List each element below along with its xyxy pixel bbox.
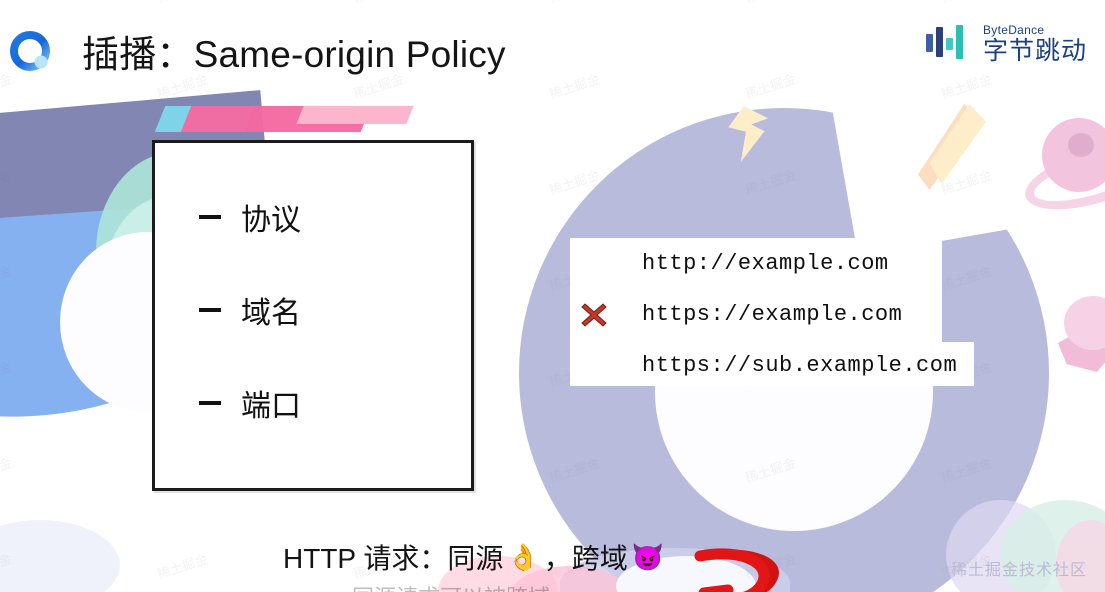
list-item-label: 协议 — [241, 195, 301, 239]
slide-header: 插播：Same-origin Policy ByteDance 字节跳动 — [0, 0, 1105, 96]
url-text: http://example.com — [642, 251, 889, 276]
same-origin-components-box: 协议域名端口 — [152, 140, 474, 491]
devil-face-icon: 😈 — [632, 544, 664, 570]
slide-canvas: 稀土掘金稀土掘金稀土掘金稀土掘金稀土掘金稀土掘金稀土掘金稀土掘金稀土掘金稀土掘金… — [0, 0, 1105, 592]
bytedance-bars-icon — [925, 25, 973, 64]
list-item: 端口 — [199, 381, 301, 425]
components-list: 协议域名端口 — [199, 195, 301, 425]
blue-ring-logo-icon — [10, 31, 52, 73]
community-watermark: @稀土掘金技术社区 — [934, 556, 1087, 580]
ok-hand-icon: 👌 — [507, 544, 539, 570]
bottom-caption: HTTP 请求：同源 👌 ，跨域 😈 — [283, 537, 668, 577]
bytedance-brand-logo: ByteDance 字节跳动 — [925, 24, 1087, 64]
url-comparison-panel: http://example.comhttps://example.comhtt… — [570, 238, 990, 391]
dash-bullet-icon — [199, 308, 221, 312]
red-curved-arrow-icon — [690, 548, 786, 592]
caption-middle: ，跨域 — [544, 537, 628, 577]
dash-bullet-icon — [199, 401, 221, 405]
brand-name-cn: 字节跳动 — [983, 39, 1087, 64]
list-item: 域名 — [199, 288, 301, 332]
list-item: 协议 — [199, 195, 301, 239]
pale-left-blob-shape — [0, 520, 120, 592]
list-item-label: 端口 — [241, 381, 301, 425]
caption-prefix: HTTP 请求：同源 — [283, 537, 503, 577]
url-text: https://sub.example.com — [642, 353, 957, 378]
list-item-label: 域名 — [241, 288, 301, 332]
light-pink-strip-shape — [296, 106, 413, 124]
page-title: 插播：Same-origin Policy — [82, 24, 506, 78]
planet-crater-shape — [1068, 133, 1094, 157]
url-row: https://example.com — [570, 289, 990, 340]
red-cross-mark-icon — [580, 301, 608, 329]
url-row: https://sub.example.com — [570, 340, 990, 391]
dash-bullet-icon — [199, 215, 221, 219]
brand-name-en: ByteDance — [983, 24, 1087, 36]
cut-off-bottom-text: 同源请求可以被跨域 — [352, 580, 550, 592]
url-row: http://example.com — [570, 238, 990, 289]
url-text: https://example.com — [642, 302, 902, 327]
